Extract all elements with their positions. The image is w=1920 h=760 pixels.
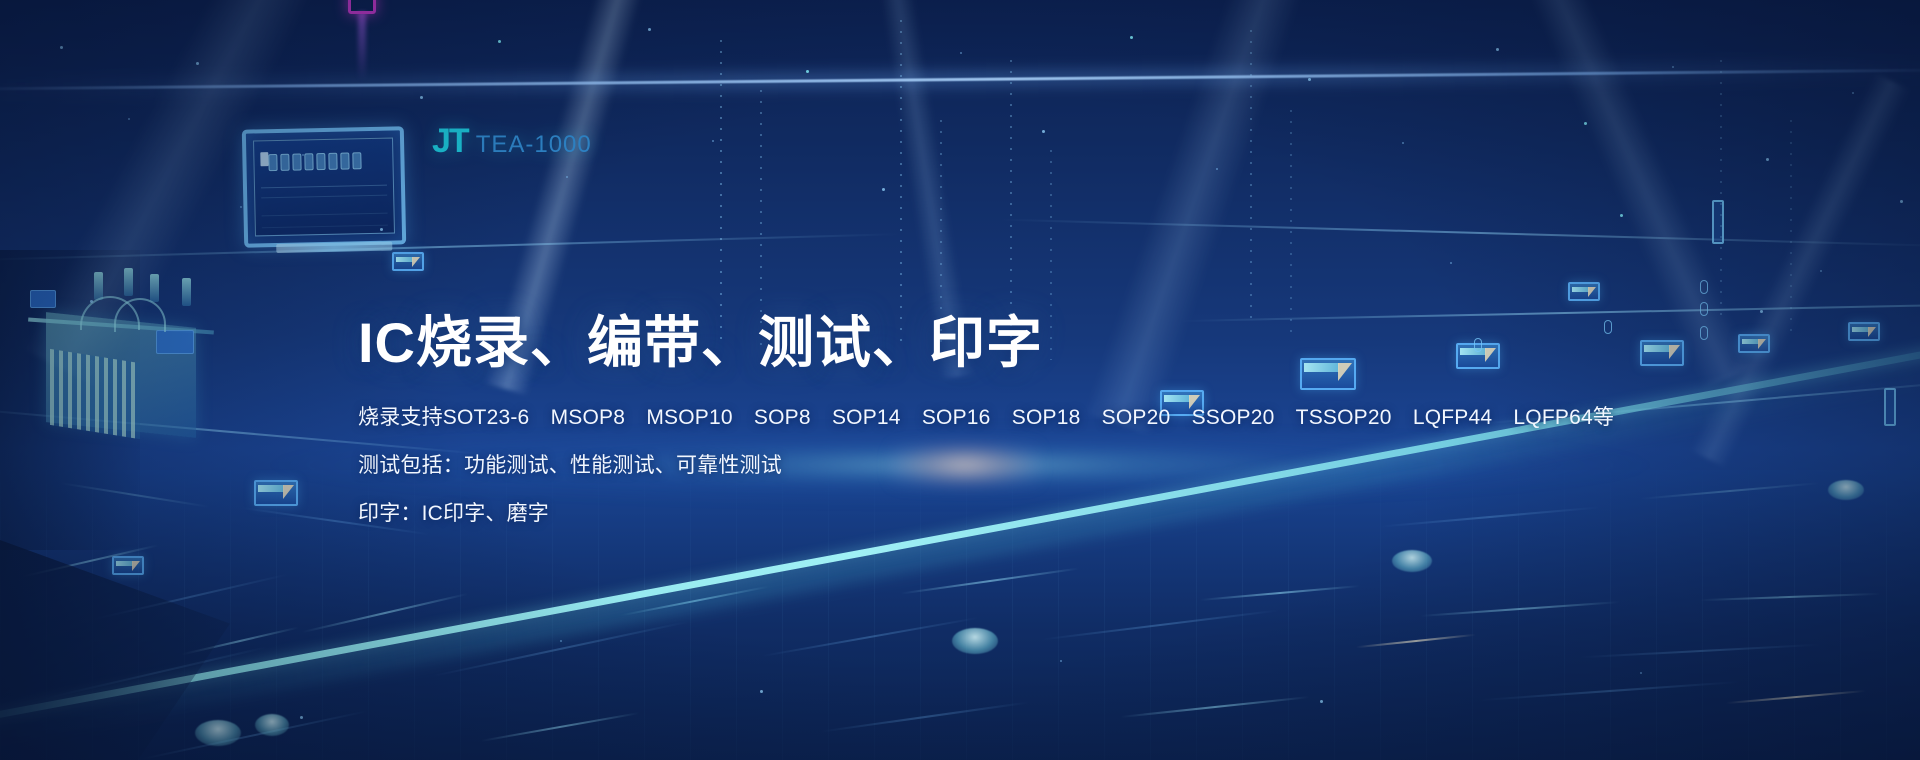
machine-post [182, 278, 191, 306]
monitor-screen [253, 138, 395, 237]
machinery-silhouette [18, 268, 218, 454]
subtitle-marking-scope: 印字：IC印字、磨字 [358, 503, 1558, 524]
wireframe-monitor-icon [242, 126, 406, 247]
post-marker-icon [1884, 388, 1896, 426]
monitor-scanline [261, 195, 387, 199]
logo-mark: JT [432, 122, 468, 161]
post-marker-icon [1712, 200, 1724, 244]
chip-icon [1640, 340, 1684, 366]
machine-fins [50, 349, 140, 439]
particle-trail [1290, 110, 1292, 340]
magenta-marker-icon [348, 0, 376, 14]
rail-support-cap [1392, 550, 1432, 572]
pill-marker-icon [1700, 326, 1708, 340]
particle-trail [1720, 60, 1722, 320]
monitor-badge-icon [260, 152, 268, 166]
rail-support-cap [1828, 480, 1864, 500]
magenta-stem [358, 12, 366, 80]
hero-banner: JT TEA-1000 [0, 0, 1920, 760]
rail-support-cap [195, 720, 241, 746]
rail-support-cap [952, 628, 998, 654]
pill-marker-icon [1700, 302, 1708, 316]
chip-icon [1848, 322, 1880, 341]
machine-box [30, 290, 56, 308]
chip-icon [392, 252, 424, 271]
equipment-logo: JT TEA-1000 [432, 122, 592, 161]
chip-icon [254, 480, 298, 506]
subtitle-test-scope: 测试包括：功能测试、性能测试、可靠性测试 [358, 455, 1558, 476]
logo-model: TEA-1000 [476, 131, 592, 159]
banner-copy: IC烧录、编带、测试、印字 烧录支持SOT23-6 MSOP8 MSOP10 S… [358, 312, 1558, 524]
chip-icon [1738, 334, 1770, 353]
page-title: IC烧录、编带、测试、印字 [358, 312, 1558, 375]
particle-trail [1250, 30, 1252, 320]
subtitle-burn-support: 烧录支持SOT23-6 MSOP8 MSOP10 SOP8 SOP14 SOP1… [358, 407, 1558, 428]
particle-trail [900, 20, 902, 350]
monitor-scanline [261, 185, 387, 189]
machine-post [124, 268, 133, 296]
pill-marker-icon [1604, 320, 1612, 334]
pill-marker-icon [1700, 280, 1708, 294]
monitor-scanline [262, 213, 388, 217]
monitor-scanline [262, 225, 388, 229]
particle-trail [720, 40, 722, 340]
rail-support-cap [255, 714, 289, 736]
chip-icon [112, 556, 144, 575]
chip-icon [1568, 282, 1600, 301]
machine-post [150, 274, 159, 302]
monitor-chip-row [268, 152, 361, 171]
particle-trail [1790, 120, 1792, 340]
machine-box [156, 330, 194, 354]
machine-post [94, 272, 103, 300]
